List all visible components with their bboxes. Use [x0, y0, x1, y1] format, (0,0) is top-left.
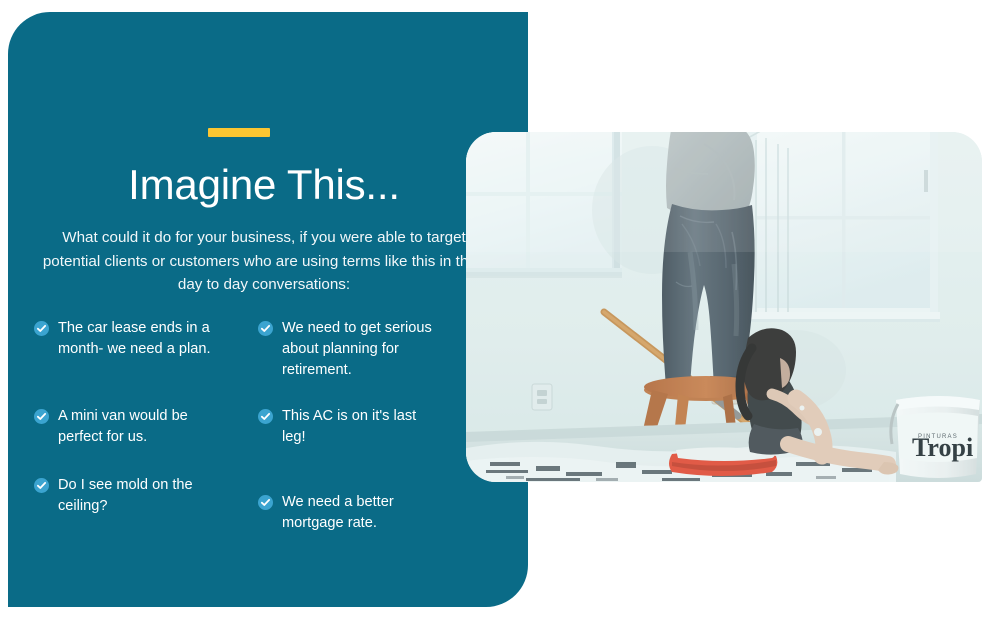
list-item: We need to get serious about planning fo…: [258, 318, 438, 381]
bullet-column-right: We need to get serious about planning fo…: [258, 318, 438, 552]
check-circle-icon: [258, 321, 273, 336]
check-circle-icon: [258, 495, 273, 510]
list-item: We need a better mortgage rate.: [258, 492, 438, 534]
list-item-label: A mini van would be perfect for us.: [58, 406, 234, 448]
intro-paragraph: What could it do for your business, if y…: [36, 226, 492, 297]
list-item: The car lease ends in a month- we need a…: [34, 318, 234, 360]
list-item-label: We need a better mortgage rate.: [282, 492, 438, 534]
hero-photo: Tropi PINTURAS: [466, 132, 982, 482]
list-item: A mini van would be perfect for us.: [34, 406, 234, 448]
photo-illustration: Tropi PINTURAS: [466, 132, 982, 482]
bullet-columns: The car lease ends in a month- we need a…: [34, 318, 494, 552]
list-item-label: This AC is on it's last leg!: [282, 406, 438, 448]
check-circle-icon: [34, 409, 49, 424]
list-item-label: The car lease ends in a month- we need a…: [58, 318, 234, 360]
bullet-column-left: The car lease ends in a month- we need a…: [34, 318, 234, 552]
list-item-label: We need to get serious about planning fo…: [282, 318, 438, 381]
slide-canvas: Imagine This... What could it do for you…: [0, 0, 1000, 622]
check-circle-icon: [34, 478, 49, 493]
list-item-label: Do I see mold on the ceiling?: [58, 475, 234, 517]
check-circle-icon: [34, 321, 49, 336]
page-title: Imagine This...: [36, 158, 492, 212]
yellow-accent-bar: [208, 128, 270, 137]
check-circle-icon: [258, 409, 273, 424]
list-item: This AC is on it's last leg!: [258, 406, 438, 448]
list-item: Do I see mold on the ceiling?: [34, 475, 234, 517]
